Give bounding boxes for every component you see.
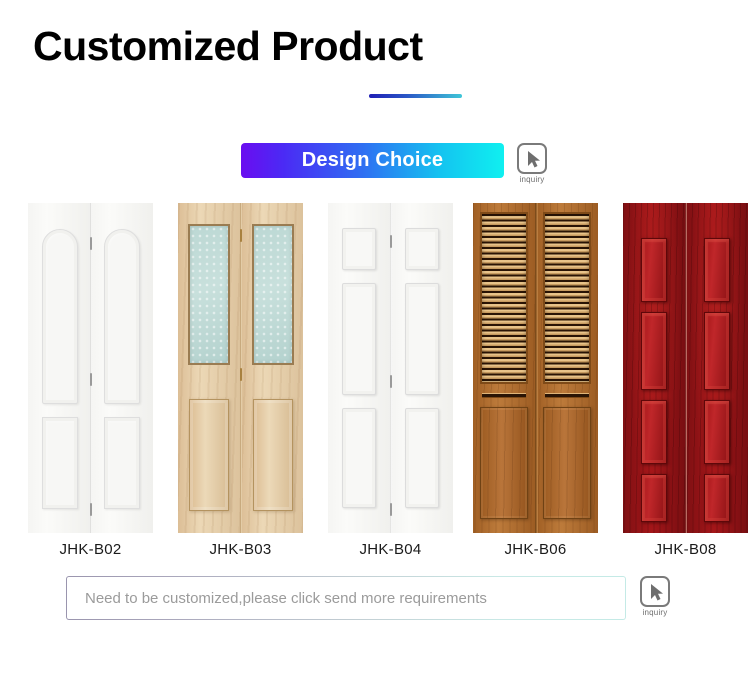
door-leaf-left — [328, 203, 391, 533]
door-image-jhk-b03 — [178, 203, 303, 533]
door-image-jhk-b06 — [473, 203, 598, 533]
door-leaf-left — [623, 203, 686, 533]
frosted-glass-panel — [188, 224, 230, 365]
customization-input-wrapper — [66, 576, 626, 620]
design-choice-inquiry-button[interactable]: inquiry — [515, 143, 549, 184]
door-leaf-right — [391, 203, 454, 533]
door-card-jhk-b04[interactable]: JHK-B04 — [328, 203, 453, 563]
design-choice-button[interactable]: Design Choice — [241, 143, 504, 178]
door-card-jhk-b08[interactable]: JHK-B08 — [623, 203, 748, 563]
frosted-glass-panel — [252, 224, 294, 365]
design-choice-inquiry-label: inquiry — [520, 175, 545, 184]
customized-product-page: Customized Product Design Choice inquiry — [0, 0, 750, 678]
louver-slats — [543, 212, 591, 384]
cursor-arrow-icon — [517, 143, 547, 174]
page-title: Customized Product — [33, 26, 423, 67]
door-label-jhk-b02: JHK-B02 — [59, 541, 121, 558]
door-card-jhk-b06[interactable]: JHK-B06 — [473, 203, 598, 563]
door-label-jhk-b03: JHK-B03 — [209, 541, 271, 558]
door-leaf-left — [473, 203, 536, 533]
door-image-jhk-b04 — [328, 203, 453, 533]
title-underline-accent — [369, 94, 462, 98]
door-leaf-right — [686, 203, 749, 533]
door-leaf-left — [28, 203, 91, 533]
louver-slats — [480, 212, 528, 384]
door-leaf-left — [178, 203, 241, 533]
door-card-jhk-b03[interactable]: JHK-B03 — [178, 203, 303, 563]
door-label-jhk-b06: JHK-B06 — [504, 541, 566, 558]
door-card-jhk-b02[interactable]: JHK-B02 — [28, 203, 153, 563]
door-gallery: JHK-B02 JHK-B03 — [0, 203, 750, 563]
door-leaf-right — [91, 203, 154, 533]
bottom-inquiry-button[interactable]: inquiry — [638, 576, 672, 617]
door-image-jhk-b02 — [28, 203, 153, 533]
door-label-jhk-b08: JHK-B08 — [654, 541, 716, 558]
customization-request-row: inquiry — [66, 576, 672, 620]
door-leaf-right — [241, 203, 304, 533]
customization-input[interactable] — [67, 577, 625, 619]
design-choice-row: Design Choice inquiry — [241, 143, 549, 184]
door-leaf-right — [536, 203, 599, 533]
door-label-jhk-b04: JHK-B04 — [359, 541, 421, 558]
cursor-arrow-icon — [640, 576, 670, 607]
door-image-jhk-b08 — [623, 203, 748, 533]
bottom-inquiry-label: inquiry — [643, 608, 668, 617]
